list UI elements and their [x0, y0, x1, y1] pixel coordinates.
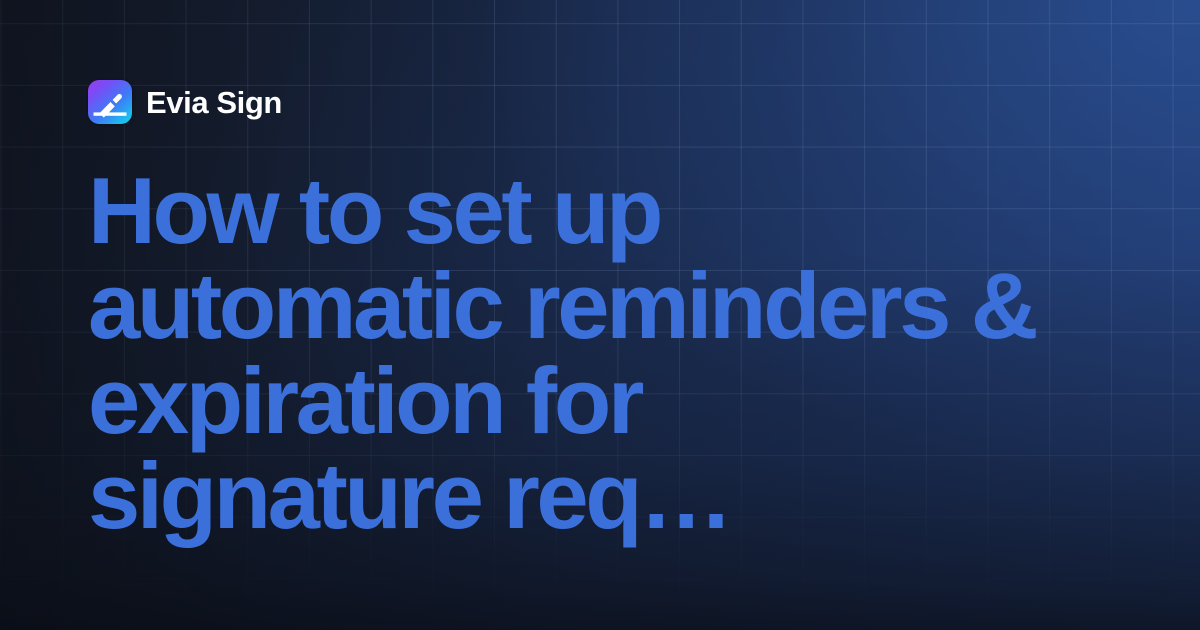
og-share-card: Evia Sign How to set up automatic remind… — [0, 0, 1200, 630]
page-title-line: expiration for — [88, 353, 1106, 448]
brand-name: Evia Sign — [146, 87, 282, 118]
card-content: Evia Sign How to set up automatic remind… — [88, 0, 1118, 630]
page-title-line: signature req… — [88, 448, 1106, 543]
brand-lockup: Evia Sign — [88, 80, 282, 124]
page-title-line: automatic reminders & — [88, 258, 1106, 353]
evia-sign-logo-icon — [88, 80, 132, 124]
page-title: How to set up automatic reminders & expi… — [88, 163, 1106, 543]
page-title-line: How to set up — [88, 163, 1106, 258]
